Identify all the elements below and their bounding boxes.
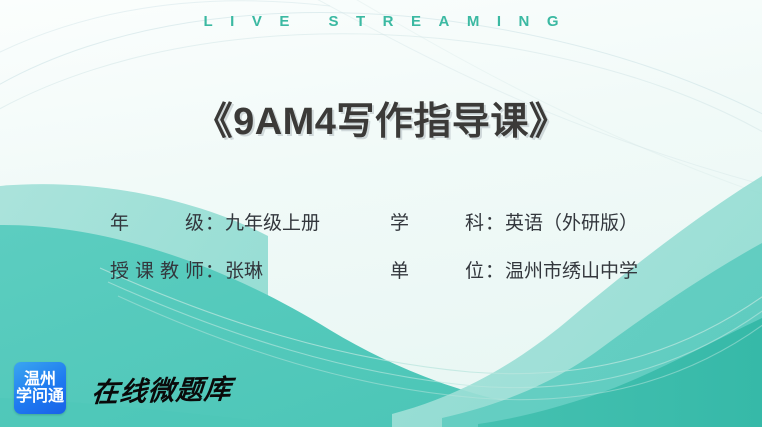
info-field-school: 单位 ： 温州市绣山中学 [390,248,670,296]
info-row: 年级 ： 九年级上册 学科 ： 英语（外研版） [110,200,670,248]
page-title: 《9AM4写作指导课》 [0,97,762,147]
info-label: 单位 [390,248,484,296]
live-streaming-tagline: LIVE STREAMING [0,13,762,31]
info-field-teacher: 授课教师 ： 张琳 [110,248,390,296]
info-label: 年级 [110,200,204,248]
info-row: 授课教师 ： 张琳 单位 ： 温州市绣山中学 [110,248,670,296]
course-info-block: 年级 ： 九年级上册 学科 ： 英语（外研版） 授课教师 ： 张琳 单位 ： 温… [110,200,670,296]
info-separator: ： [484,200,505,248]
info-value: 英语（外研版） [505,200,638,248]
info-field-grade: 年级 ： 九年级上册 [110,200,390,248]
logo-line-brand: 学问通 [16,388,64,405]
info-value: 温州市绣山中学 [505,248,638,296]
slide-canvas: LIVE STREAMING 《9AM4写作指导课》 年级 ： 九年级上册 学科… [0,0,762,431]
info-label: 学科 [390,200,484,248]
info-label: 授课教师 [110,248,204,296]
info-field-subject: 学科 ： 英语（外研版） [390,200,670,248]
info-separator: ： [204,200,225,248]
wenzhou-xuewentong-logo: 温州 学问通 [14,362,66,414]
bottom-white-strip [0,427,762,431]
info-value: 九年级上册 [225,200,320,248]
info-separator: ： [484,248,505,296]
brand-script-text: 在线微题库 [90,367,233,410]
info-separator: ： [204,248,225,296]
brand-logo-group: 温州 学问通 在线微题库 [14,362,232,414]
logo-line-city: 温州 [24,371,56,388]
info-value: 张琳 [225,248,263,296]
